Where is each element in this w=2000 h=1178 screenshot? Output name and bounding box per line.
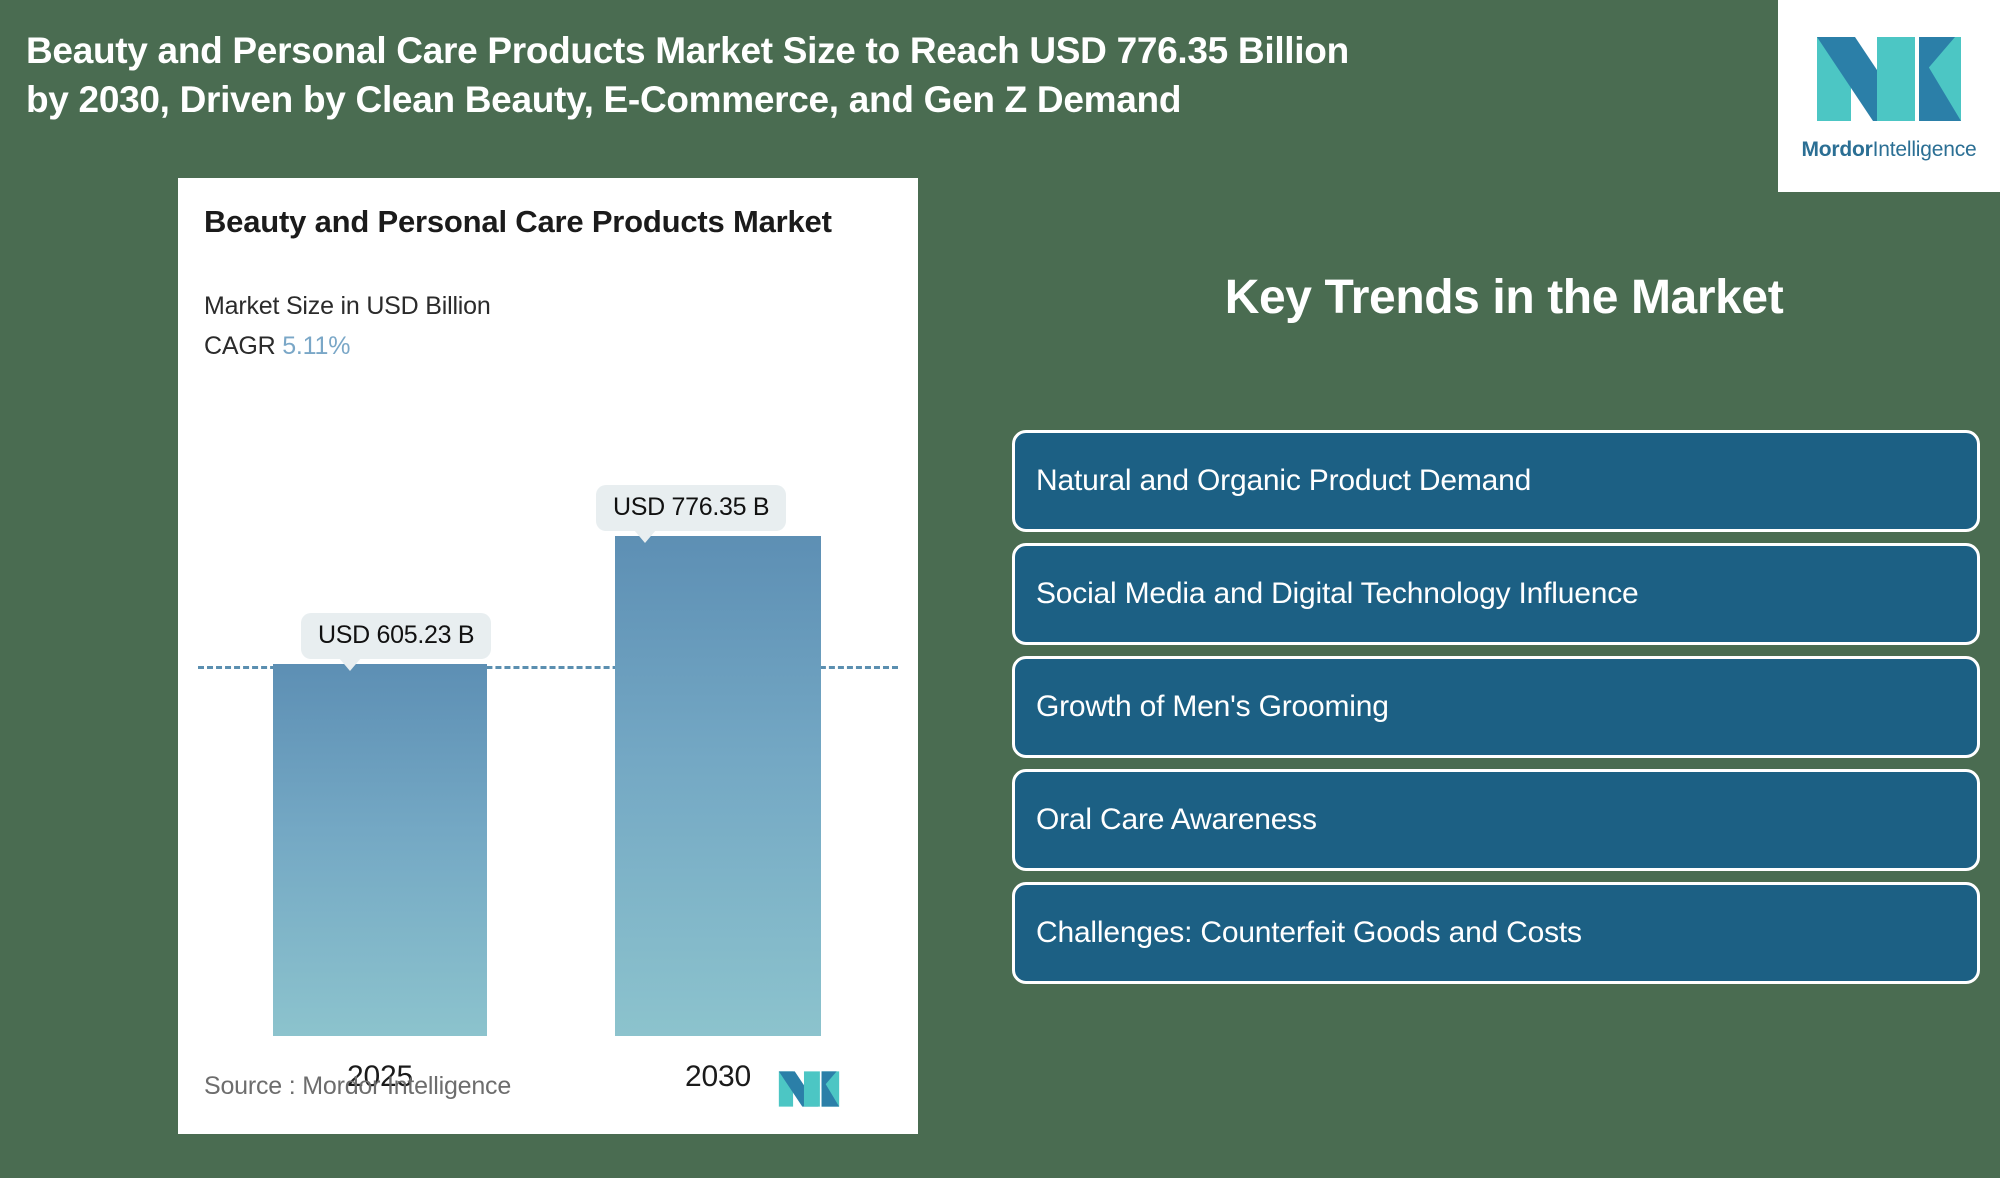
- trend-card-mens-grooming[interactable]: Growth of Men's Grooming: [1012, 656, 1980, 758]
- trend-label: Challenges: Counterfeit Goods and Costs: [1036, 916, 1582, 950]
- chart-subtitle: Market Size in USD Billion: [204, 292, 491, 321]
- chart-card: Beauty and Personal Care Products Market…: [178, 178, 918, 1134]
- headline-line-2: by 2030, Driven by Clean Beauty, E-Comme…: [26, 75, 1756, 124]
- brand-panel: MordorIntelligence: [1778, 0, 2000, 192]
- trend-card-social-media[interactable]: Social Media and Digital Technology Infl…: [1012, 543, 1980, 645]
- trend-label: Oral Care Awareness: [1036, 803, 1317, 837]
- page-headline: Beauty and Personal Care Products Market…: [26, 26, 1756, 124]
- key-trends-list: Natural and Organic Product Demand Socia…: [1012, 430, 1980, 995]
- trend-label: Social Media and Digital Technology Infl…: [1036, 577, 1639, 611]
- trend-label: Growth of Men's Grooming: [1036, 690, 1389, 724]
- bar-2025: [273, 664, 487, 1036]
- cagr-row: CAGR 5.11%: [204, 332, 350, 361]
- source-attribution: Source : Mordor Intelligence: [204, 1072, 511, 1101]
- trend-label: Natural and Organic Product Demand: [1036, 464, 1531, 498]
- headline-line-1: Beauty and Personal Care Products Market…: [26, 26, 1756, 75]
- bar-value-label-2025: USD 605.23 B: [301, 613, 491, 659]
- bar-value-label-2030: USD 776.35 B: [596, 485, 786, 531]
- chart-title: Beauty and Personal Care Products Market: [204, 202, 864, 241]
- mordor-intelligence-logo-icon: [778, 1068, 840, 1115]
- mordor-intelligence-logo-icon: [1815, 31, 1963, 132]
- trend-card-challenges[interactable]: Challenges: Counterfeit Goods and Costs: [1012, 882, 1980, 984]
- brand-name-regular: Intelligence: [1873, 138, 1977, 161]
- bar-2030: [615, 536, 821, 1036]
- cagr-value: 5.11%: [282, 332, 350, 360]
- trend-card-natural-organic[interactable]: Natural and Organic Product Demand: [1012, 430, 1980, 532]
- chart-card-footer: Source : Mordor Intelligence: [178, 1050, 918, 1134]
- brand-wordmark: MordorIntelligence: [1802, 138, 1977, 162]
- cagr-label: CAGR: [204, 332, 275, 360]
- brand-name-bold: Mordor: [1802, 138, 1873, 161]
- trend-card-oral-care[interactable]: Oral Care Awareness: [1012, 769, 1980, 871]
- key-trends-heading: Key Trends in the Market: [1034, 270, 1974, 325]
